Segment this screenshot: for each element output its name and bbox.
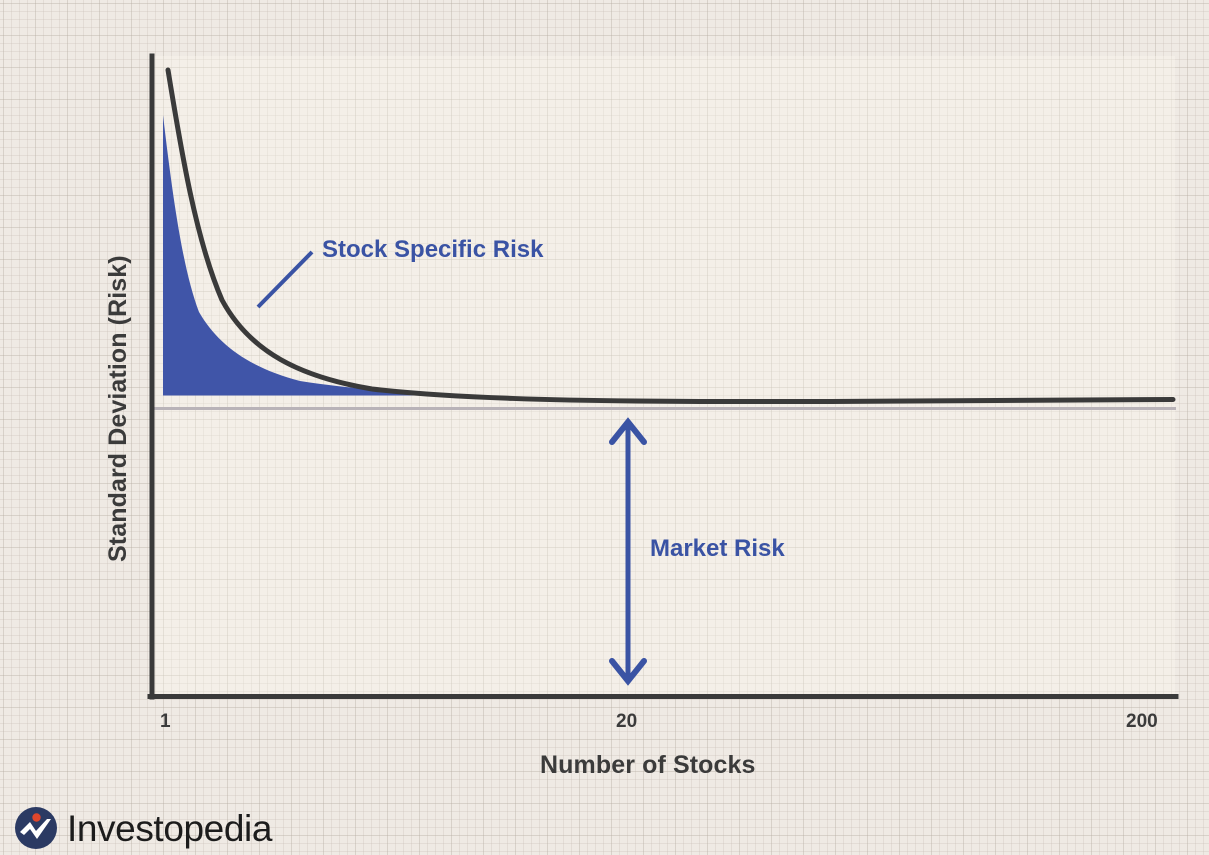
x-tick-label-1: 1 [160,711,171,733]
stock-specific-risk-label: Stock Specific Risk [322,236,543,264]
x-tick-label-200: 200 [1126,711,1158,733]
total-risk-curve [168,70,1173,402]
stock-specific-risk-leader-line [258,252,312,307]
market-risk-double-arrow [612,422,644,681]
chart-figure: Standard Deviation (Risk) Number of Stoc… [0,0,1209,855]
x-axis-title: Number of Stocks [540,751,756,780]
investopedia-wordmark: Investopedia [67,810,272,847]
investopedia-logo: Investopedia [14,806,272,850]
y-axis-title: Standard Deviation (Risk) [104,255,133,562]
investopedia-logo-icon [14,806,58,850]
market-risk-label: Market Risk [650,535,785,563]
chart-canvas [0,0,1209,855]
x-tick-label-20: 20 [616,711,637,733]
